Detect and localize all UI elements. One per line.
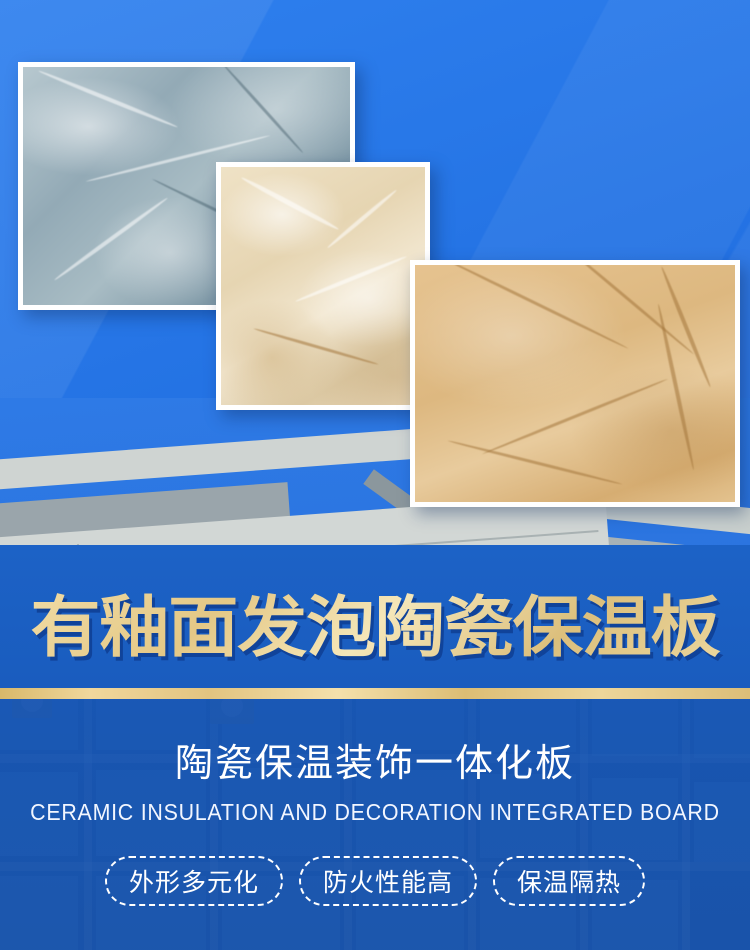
product-tile-image-2[interactable] bbox=[216, 162, 430, 410]
feature-tag[interactable]: 防火性能高 bbox=[299, 856, 477, 906]
product-tile-image-3[interactable] bbox=[410, 260, 740, 507]
feature-tag[interactable]: 保温隔热 bbox=[493, 856, 645, 906]
gold-divider bbox=[0, 688, 750, 699]
feature-tag[interactable]: 外形多元化 bbox=[105, 856, 283, 906]
marble-texture bbox=[221, 167, 425, 405]
page-title: 有釉面发泡陶瓷保温板 bbox=[0, 586, 750, 670]
product-banner-poster: 有釉面发泡陶瓷保温板 有釉面发泡陶瓷保温板 陶瓷保温装饰一体化板 CERAMIC… bbox=[0, 0, 750, 950]
feature-tag-list: 外形多元化 防火性能高 保温隔热 bbox=[0, 855, 750, 907]
subtitle-english: CERAMIC INSULATION AND DECORATION INTEGR… bbox=[26, 797, 724, 827]
headline-block: 有釉面发泡陶瓷保温板 有釉面发泡陶瓷保温板 bbox=[0, 586, 750, 672]
subtitle-chinese: 陶瓷保温装饰一体化板 bbox=[0, 737, 750, 789]
marble-texture bbox=[415, 265, 735, 502]
